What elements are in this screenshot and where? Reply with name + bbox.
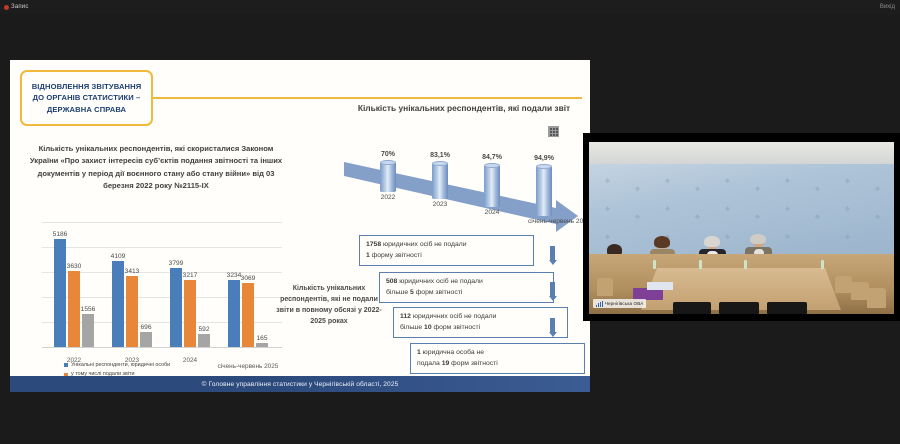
slide-title-box: ВІДНОВЛЕННЯ ЗВІТУВАННЯ ДО ОРГАНІВ СТАТИС… xyxy=(20,70,153,126)
arrow-down-2 xyxy=(548,282,557,301)
callout-1-person: 1 юридична особа не подала 19 форм звітн… xyxy=(410,343,585,374)
page-title: ВІДНОВЛЕННЯ ЗВІТУВАННЯ ДО ОРГАНІВ СТАТИС… xyxy=(22,81,151,115)
presentation-slide: ВІДНОВЛЕННЯ ЗВІТУВАННЯ ДО ОРГАНІВ СТАТИС… xyxy=(10,60,590,392)
bar-2025-not-submitted: 165 xyxy=(256,343,268,347)
slide-footer: © Головне управління статистики у Черніг… xyxy=(10,376,590,392)
recording-dot-icon xyxy=(4,5,9,10)
left-paragraph: Кількість унікальних респондентів, які с… xyxy=(28,143,284,192)
exit-button[interactable]: Вихід xyxy=(880,4,895,10)
chart-title: Кількість унікальних респондентів, які п… xyxy=(352,102,576,115)
grid-icon xyxy=(548,126,559,137)
video-watermark: Чернігівська ОВА xyxy=(593,299,646,308)
bar-2023-total: 4109 xyxy=(112,261,124,347)
bar-group-2023: 4109 3413 696 xyxy=(104,222,160,347)
bar-2024-not-submitted: 592 xyxy=(198,334,210,347)
cylinder-2024: 84,7% 2024 xyxy=(484,165,500,207)
arrow-down-3 xyxy=(548,318,557,337)
cylinder-2022: 70% 2022 xyxy=(380,162,396,192)
video-frame: ✥ ✥ ✥ ✥ ✥ ✥ ✥ ✥ ✥ ✥ ✥ ✥ ✥ ✥ ✥ ✥ ✥ ✥ ✥ ✥ … xyxy=(589,142,894,314)
bar-group-2022: 5186 3630 1556 xyxy=(46,222,102,347)
callout-508: 508 юридичних осіб не подали більше 5 фо… xyxy=(379,272,554,303)
bar-2025-submitted: 3069 xyxy=(242,283,254,347)
bar-2023-submitted: 3413 xyxy=(126,276,138,347)
bar-2024-submitted: 3217 xyxy=(184,280,196,347)
footer-copyright: © Головне управління статистики у Черніг… xyxy=(202,381,399,388)
title-accent-rule xyxy=(150,97,582,99)
bar-2022-submitted: 3630 xyxy=(68,271,80,347)
signal-bars-icon xyxy=(596,301,603,307)
video-ceiling xyxy=(589,142,894,164)
callout-1758: 1758 юридичних осіб не подали 1 форму зв… xyxy=(359,235,534,266)
video-papers xyxy=(647,282,673,290)
cylinder-2025: 94,9% січень-червень 2025 xyxy=(536,166,552,216)
recording-label: Запис xyxy=(11,4,29,10)
chart-axis xyxy=(42,347,282,348)
bar-2022-not-submitted: 1556 xyxy=(82,314,94,347)
video-conference-panel[interactable]: ✥ ✥ ✥ ✥ ✥ ✥ ✥ ✥ ✥ ✥ ✥ ✥ ✥ ✥ ✥ ✥ ✥ ✥ ✥ ✥ … xyxy=(583,133,900,321)
bar-2023-not-submitted: 696 xyxy=(140,332,152,347)
bar-group-2024: 3799 3217 592 xyxy=(162,222,218,347)
bar-group-2025: 3234 3069 165 xyxy=(220,222,276,347)
right-cylinder-chart: Кількість унікальних респондентів, які п… xyxy=(342,102,586,232)
callout-112: 112 юридичних осіб не подали більше 10 ф… xyxy=(393,307,568,338)
recording-indicator: Запис xyxy=(4,4,29,10)
arrow-down-1 xyxy=(548,246,557,265)
left-bar-chart: 5186 3630 1556 2022 4109 3413 696 2023 3… xyxy=(24,212,286,387)
recording-topbar: Запис Вихід xyxy=(0,0,900,14)
xlabel-2025: січень-червень 2025 xyxy=(217,363,279,371)
bar-2022-total: 5186 xyxy=(54,239,66,347)
cylinder-2023: 83,1% 2023 xyxy=(432,163,448,199)
middle-paragraph: Кількість унікальних респондентів, які н… xyxy=(276,284,382,327)
bar-2025-total: 3234 xyxy=(228,280,240,347)
bar-2024-total: 3799 xyxy=(170,268,182,347)
legend-item-total: Унікальні респонденти, юридичні особи xyxy=(64,361,170,370)
